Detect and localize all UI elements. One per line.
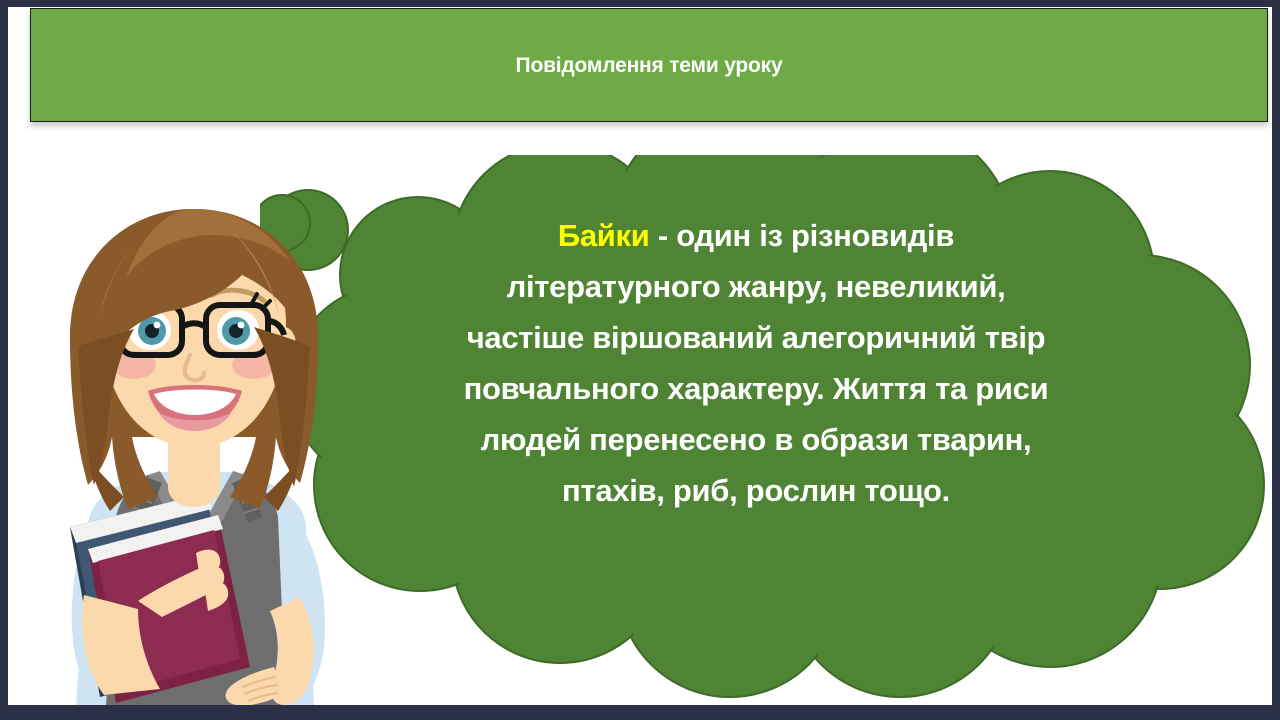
cloud-line-2: літературного жанру, невеликий, <box>386 261 1126 312</box>
header-banner: Повідомлення теми уроку <box>30 8 1268 122</box>
cloud-line-1-rest: - один із різновидів <box>658 218 954 253</box>
neck <box>168 437 220 507</box>
page-title: Повідомлення теми уроку <box>31 54 1267 78</box>
slide-frame: Повідомлення теми уроку <box>0 0 1280 720</box>
cloud-line-3: частіше віршований алегоричний твір <box>386 312 1126 363</box>
teacher-illustration <box>28 197 358 705</box>
cloud-line-5: людей перенесено в образи тварин, <box>386 414 1126 465</box>
highlight-term: Байки <box>558 218 650 253</box>
teacher-figure <box>28 197 358 705</box>
slide-canvas: Повідомлення теми уроку <box>8 7 1272 705</box>
cloud-line-1: Байки - один із різновидів <box>386 210 1126 261</box>
cloud-line-4: повчального характеру. Життя та риси <box>386 363 1126 414</box>
cloud-body-text: Байки - один із різновидів літературного… <box>386 210 1126 516</box>
cloud-line-6: птахів, риб, рослин тощо. <box>386 465 1126 516</box>
